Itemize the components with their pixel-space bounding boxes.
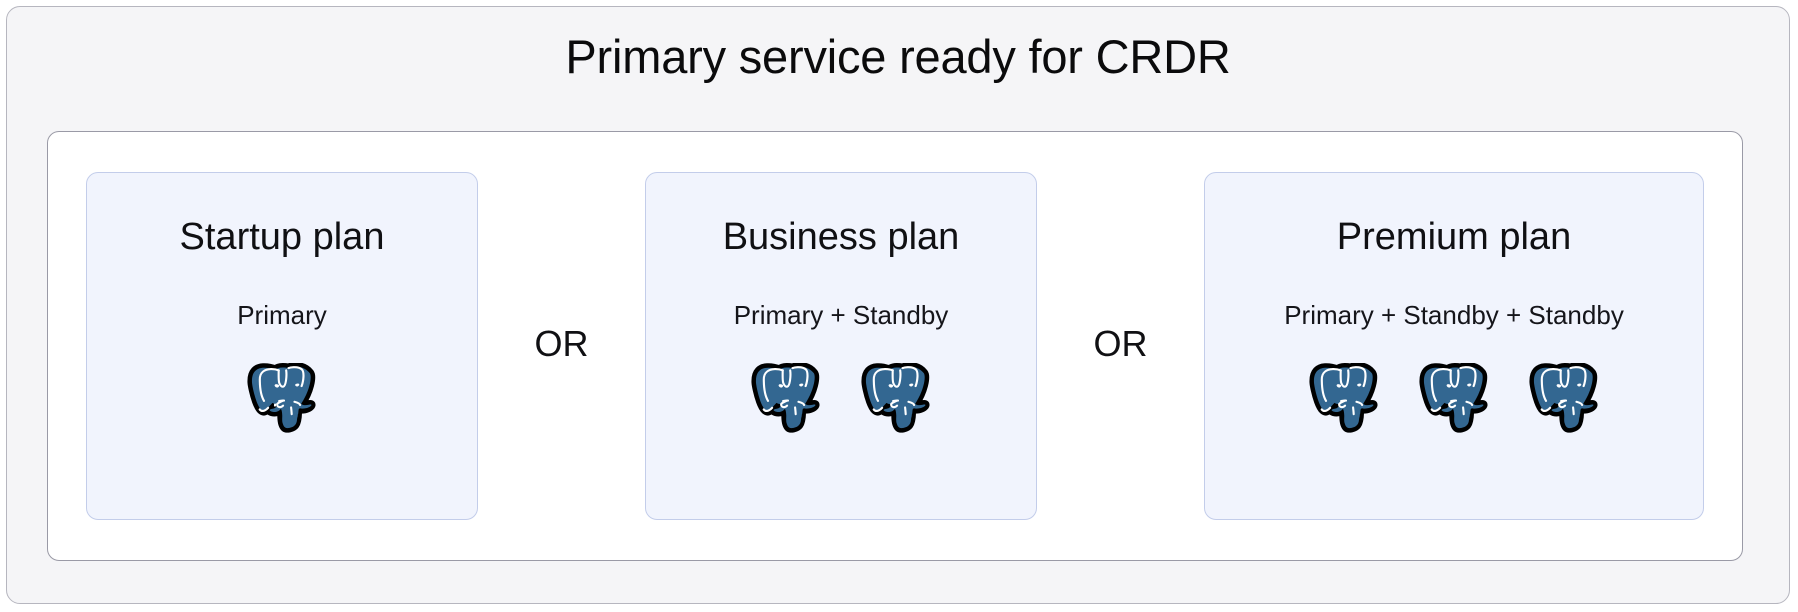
node-row-premium — [1309, 363, 1599, 433]
or-separator-2: OR — [1037, 326, 1204, 366]
node-row-business — [751, 363, 931, 433]
postgresql-elephant-icon — [1309, 363, 1379, 433]
node-row-startup — [247, 363, 317, 433]
plan-name: Premium plan — [1337, 217, 1571, 259]
plan-card-startup[interactable]: Startup plan Primary — [86, 172, 478, 520]
plans-panel: Startup plan Primary — [47, 131, 1743, 561]
figure-title: Primary service ready for CRDR — [565, 31, 1230, 83]
postgresql-elephant-icon — [247, 363, 317, 433]
plan-name: Business plan — [723, 217, 960, 259]
plan-topology: Primary + Standby — [734, 301, 949, 330]
plan-topology: Primary + Standby + Standby — [1284, 301, 1624, 330]
postgresql-elephant-icon — [751, 363, 821, 433]
or-separator-1: OR — [478, 326, 645, 366]
plan-topology: Primary — [237, 301, 327, 330]
postgresql-elephant-icon — [861, 363, 931, 433]
plans-row: Startup plan Primary — [48, 172, 1742, 520]
plan-card-business[interactable]: Business plan Primary + Standby — [645, 172, 1037, 520]
postgresql-elephant-icon — [1529, 363, 1599, 433]
figure-frame: Primary service ready for CRDR Startup p… — [6, 6, 1790, 604]
postgresql-elephant-icon — [1419, 363, 1489, 433]
plan-card-premium[interactable]: Premium plan Primary + Standby + Standby — [1204, 172, 1704, 520]
plan-name: Startup plan — [180, 217, 385, 259]
